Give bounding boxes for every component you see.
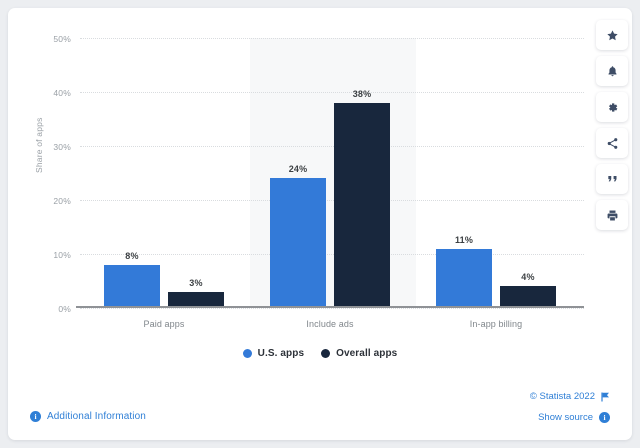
y-tick-label-40: 40% [53, 88, 71, 98]
star-icon [606, 29, 619, 42]
chart-area: Share of apps 50% 40% 30% 20% 10% 0% [8, 8, 632, 380]
statista-chart-card: Share of apps 50% 40% 30% 20% 10% 0% [8, 8, 632, 440]
bar-value-label: 11% [455, 235, 473, 245]
x-tick-label-include-ads: Include ads [306, 319, 353, 329]
bar-include-ads-us[interactable]: 24% [270, 178, 326, 308]
bar-value-label: 4% [521, 272, 534, 282]
info-icon: i [599, 412, 610, 423]
y-tick-label-10: 10% [53, 250, 71, 260]
share-button[interactable] [596, 128, 628, 158]
gridline-20: 20% [80, 200, 584, 201]
bar-value-label: 24% [289, 164, 308, 174]
bar-in-app-billing-overall[interactable]: 4% [500, 286, 556, 308]
settings-button[interactable] [596, 92, 628, 122]
gridline-30: 30% [80, 146, 584, 147]
x-tick-label-in-app-billing: In-app billing [470, 319, 522, 329]
show-source-label: Show source [538, 412, 593, 423]
legend-item-us-apps[interactable]: U.S. apps [243, 348, 304, 359]
additional-information-link[interactable]: i Additional Information [30, 411, 146, 422]
print-button[interactable] [596, 200, 628, 230]
copyright-label: © Statista 2022 [530, 391, 595, 402]
favorite-button[interactable] [596, 20, 628, 50]
bar-paid-apps-us[interactable]: 8% [104, 265, 160, 308]
show-source-link[interactable]: Show source i [538, 412, 610, 423]
card-footer: i Additional Information © Statista 2022… [8, 380, 632, 440]
chart-legend: U.S. apps Overall apps [8, 348, 632, 359]
share-icon [606, 137, 619, 150]
copyright-notice: © Statista 2022 [530, 391, 610, 402]
gridline-50: 50% [80, 38, 584, 39]
y-tick-label-30: 30% [53, 142, 71, 152]
y-tick-label-20: 20% [53, 196, 71, 206]
quote-icon [606, 173, 619, 186]
bell-icon [606, 65, 619, 78]
bar-value-label: 8% [125, 251, 138, 261]
flag-icon [601, 392, 610, 402]
legend-item-overall-apps[interactable]: Overall apps [321, 348, 397, 359]
gridline-40: 40% [80, 92, 584, 93]
legend-swatch-icon [243, 349, 252, 358]
legend-label: U.S. apps [258, 348, 304, 359]
gridline-10: 10% [80, 254, 584, 255]
legend-swatch-icon [321, 349, 330, 358]
notifications-button[interactable] [596, 56, 628, 86]
bar-include-ads-overall[interactable]: 38% [334, 103, 390, 308]
bar-value-label: 3% [189, 278, 202, 288]
gridline-0: 0% [80, 308, 584, 309]
info-icon: i [30, 411, 41, 422]
legend-label: Overall apps [336, 348, 397, 359]
plot-area: 50% 40% 30% 20% 10% 0% 8% 3% [80, 38, 584, 308]
y-tick-label-0: 0% [58, 304, 71, 314]
gear-icon [606, 101, 619, 114]
bar-value-label: 38% [353, 89, 372, 99]
additional-information-label: Additional Information [47, 411, 146, 422]
cite-button[interactable] [596, 164, 628, 194]
print-icon [606, 209, 619, 222]
y-axis-label: Share of apps [34, 117, 44, 173]
y-tick-label-50: 50% [53, 34, 71, 44]
side-toolbar [596, 20, 628, 230]
x-axis-line [76, 306, 584, 308]
x-tick-label-paid-apps: Paid apps [144, 319, 185, 329]
bar-in-app-billing-us[interactable]: 11% [436, 249, 492, 308]
